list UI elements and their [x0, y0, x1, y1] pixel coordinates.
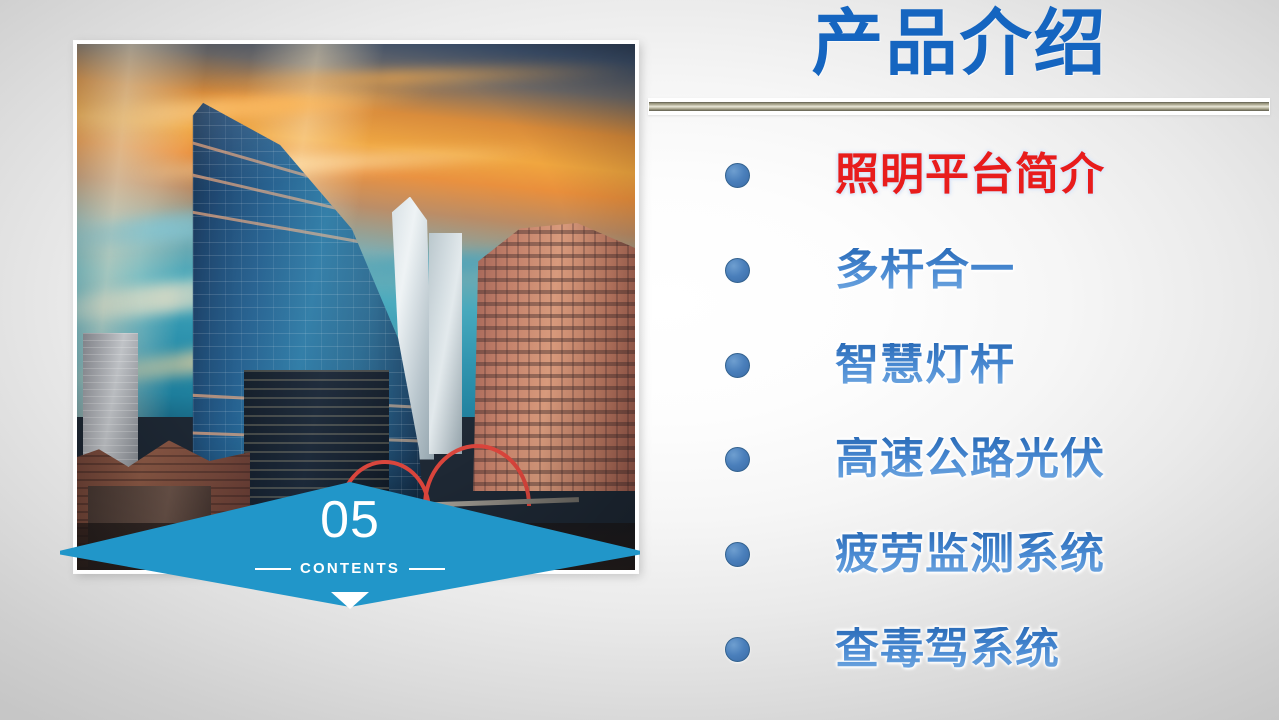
bullet-icon: [725, 258, 750, 283]
list-item-label: 高速公路光伏: [835, 437, 1105, 481]
caret-down-icon: [331, 592, 369, 609]
bullet-icon: [725, 637, 750, 662]
badge-rule-right: [409, 568, 445, 570]
list-item[interactable]: 智慧灯杆: [640, 326, 1279, 404]
list-item-label: 多杆合一: [835, 248, 1015, 292]
list-item-label: 智慧灯杆: [835, 343, 1015, 387]
badge-number: 05: [60, 494, 640, 546]
title-divider: [648, 98, 1270, 115]
page-title: 产品介绍: [640, 2, 1279, 87]
list-item-label: 疲劳监测系统: [835, 532, 1105, 576]
contents-badge: 05 CONTENTS: [60, 482, 640, 642]
badge-rule-left: [255, 568, 291, 570]
bullet-icon: [725, 542, 750, 567]
list-item[interactable]: 高速公路光伏: [640, 420, 1279, 498]
title-divider-inner: [649, 102, 1269, 111]
list-item[interactable]: 查毒驾系统: [640, 610, 1279, 688]
bullet-icon: [725, 163, 750, 188]
bullet-icon: [725, 353, 750, 378]
badge-subtitle-row: CONTENTS: [60, 560, 640, 577]
list-item[interactable]: 多杆合一: [640, 231, 1279, 309]
list-item-label: 查毒驾系统: [835, 627, 1060, 671]
list-item[interactable]: 疲劳监测系统: [640, 515, 1279, 593]
bullet-icon: [725, 447, 750, 472]
building-white-tower-2: [429, 233, 462, 454]
presentation-slide: 05 CONTENTS 产品介绍 照明平台简介 多杆合一 智慧灯杆 高速公路光伏: [0, 0, 1279, 720]
badge-subtitle: CONTENTS: [300, 560, 400, 577]
list-item-label: 照明平台简介: [835, 153, 1105, 197]
list-item[interactable]: 照明平台简介: [640, 136, 1279, 214]
contents-list: 照明平台简介 多杆合一 智慧灯杆 高速公路光伏 疲劳监测系统 查毒驾系统: [640, 128, 1279, 708]
